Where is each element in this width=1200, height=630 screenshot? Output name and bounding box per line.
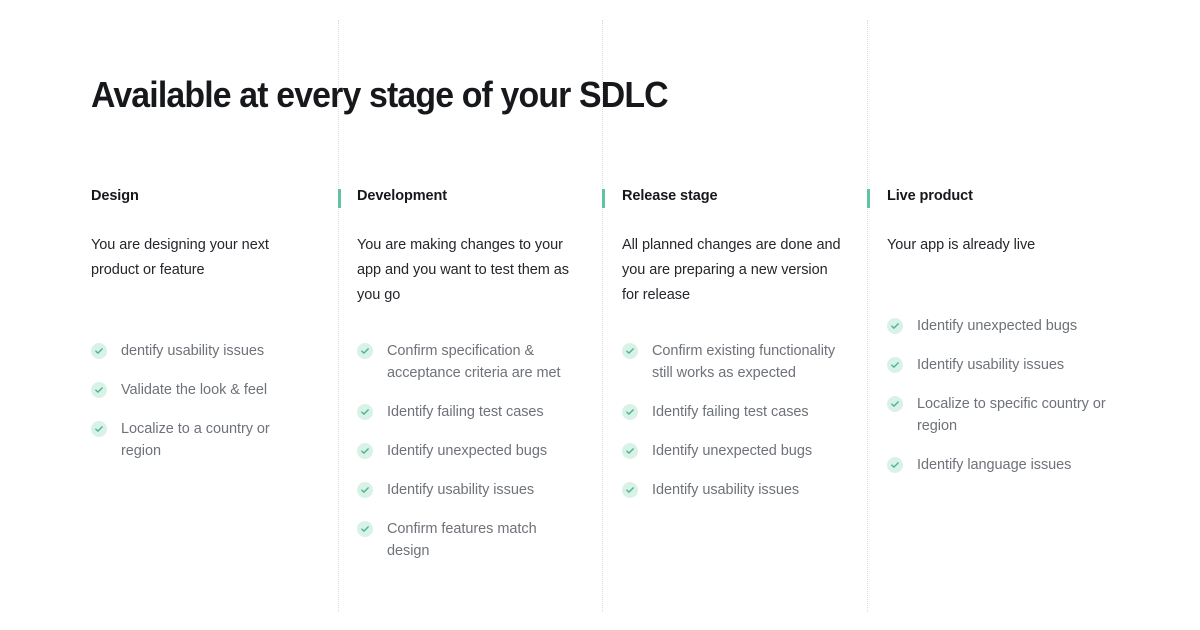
accent-bar xyxy=(338,189,341,208)
stage-columns: Design You are designing your next produ… xyxy=(0,186,1200,562)
check-circle-icon xyxy=(622,343,638,359)
check-circle-icon xyxy=(91,382,107,398)
column-description-live-product: Your app is already live xyxy=(887,206,1123,258)
check-circle-icon xyxy=(887,457,903,473)
check-circle-icon xyxy=(91,343,107,359)
check-circle-icon xyxy=(887,318,903,334)
slide-canvas: Available at every stage of your SDLC De… xyxy=(0,0,1200,630)
list-item: dentify usability issues xyxy=(91,340,308,362)
list-item: Identify failing test cases xyxy=(622,401,845,423)
check-circle-icon xyxy=(357,482,373,498)
list-item-label: Localize to specific country or region xyxy=(917,393,1132,437)
stage-column-release-stage: Release stage All planned changes are do… xyxy=(602,186,867,562)
check-circle-icon xyxy=(887,357,903,373)
check-circle-icon xyxy=(622,443,638,459)
list-item-label: Confirm features match design xyxy=(387,518,580,562)
column-title-design: Design xyxy=(91,186,308,206)
list-item: Identify language issues xyxy=(887,454,1160,476)
list-item: Identify unexpected bugs xyxy=(887,315,1160,337)
list-item: Confirm features match design xyxy=(357,518,580,562)
list-item: Identify unexpected bugs xyxy=(357,440,580,462)
check-circle-icon xyxy=(622,482,638,498)
stage-column-live-product: Live product Your app is already live Id… xyxy=(867,186,1200,562)
page-title: Available at every stage of your SDLC xyxy=(91,72,668,118)
feature-list-design: dentify usability issues Validate the lo… xyxy=(91,283,308,462)
column-description-release-stage: All planned changes are done and you are… xyxy=(622,206,845,308)
check-circle-icon xyxy=(357,404,373,420)
feature-list-release-stage: Confirm existing functionality still wor… xyxy=(622,308,845,501)
list-item-label: Localize to a country or region xyxy=(121,418,308,462)
check-circle-icon xyxy=(357,521,373,537)
list-item-label: Identify failing test cases xyxy=(387,401,544,423)
check-circle-icon xyxy=(622,404,638,420)
list-item: Identify usability issues xyxy=(357,479,580,501)
list-item-label: Identify usability issues xyxy=(917,354,1064,376)
list-item-label: Identify usability issues xyxy=(387,479,534,501)
column-description-development: You are making changes to your app and y… xyxy=(357,206,580,308)
feature-list-development: Confirm specification & acceptance crite… xyxy=(357,308,580,562)
accent-bar xyxy=(867,189,870,208)
accent-bar xyxy=(602,189,605,208)
check-circle-icon xyxy=(357,343,373,359)
stage-column-design: Design You are designing your next produ… xyxy=(0,186,338,562)
check-circle-icon xyxy=(887,396,903,412)
list-item-label: Confirm specification & acceptance crite… xyxy=(387,340,580,384)
list-item-label: Identify usability issues xyxy=(652,479,799,501)
feature-list-live-product: Identify unexpected bugs Identify usabil… xyxy=(887,258,1160,476)
list-item-label: Identify unexpected bugs xyxy=(387,440,547,462)
list-item: Confirm existing functionality still wor… xyxy=(622,340,845,384)
list-item: Identify failing test cases xyxy=(357,401,580,423)
list-item-label: Validate the look & feel xyxy=(121,379,267,401)
column-title-release-stage: Release stage xyxy=(622,186,845,206)
column-title-live-product: Live product xyxy=(887,186,1160,206)
list-item-label: Identify unexpected bugs xyxy=(652,440,812,462)
list-item: Identify usability issues xyxy=(887,354,1160,376)
check-circle-icon xyxy=(91,421,107,437)
list-item-label: Identify failing test cases xyxy=(652,401,809,423)
list-item-label: Identify language issues xyxy=(917,454,1071,476)
column-description-design: You are designing your next product or f… xyxy=(91,206,308,283)
list-item: Identify unexpected bugs xyxy=(622,440,845,462)
check-circle-icon xyxy=(357,443,373,459)
column-title-development: Development xyxy=(357,186,580,206)
list-item-label: Identify unexpected bugs xyxy=(917,315,1077,337)
stage-column-development: Development You are making changes to yo… xyxy=(338,186,602,562)
list-item: Confirm specification & acceptance crite… xyxy=(357,340,580,384)
list-item-label: dentify usability issues xyxy=(121,340,264,362)
list-item: Localize to a country or region xyxy=(91,418,308,462)
list-item-label: Confirm existing functionality still wor… xyxy=(652,340,845,384)
list-item: Localize to specific country or region xyxy=(887,393,1160,437)
list-item: Validate the look & feel xyxy=(91,379,308,401)
list-item: Identify usability issues xyxy=(622,479,845,501)
